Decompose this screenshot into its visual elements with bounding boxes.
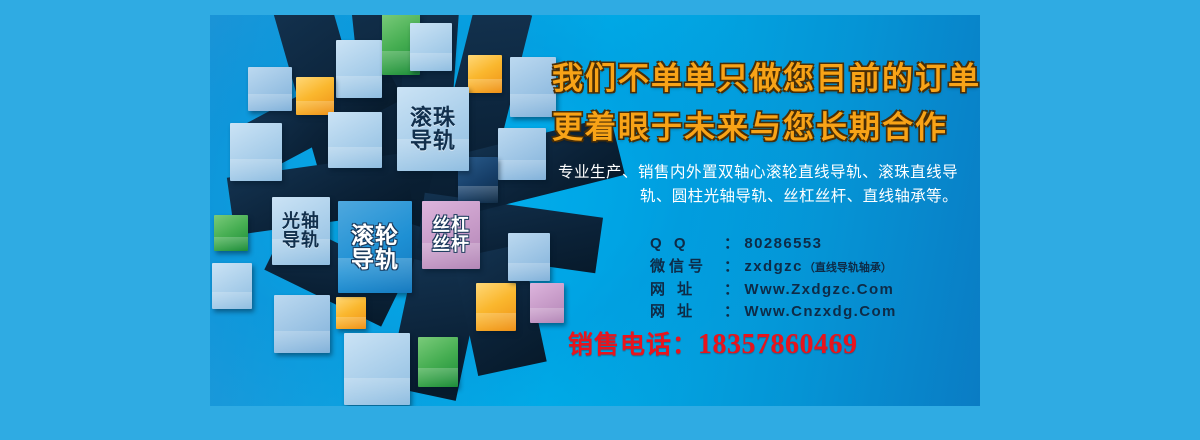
cube-guangzhou-daogui [272, 197, 330, 265]
decorative-cube [296, 77, 334, 115]
decorative-cube [328, 112, 382, 168]
decorative-cube [274, 295, 330, 353]
decorative-cube [468, 55, 502, 93]
contact-block: Q Q ： 80286553 微信号 ： zxdgzc （直线导轨轴承） 网 址… [650, 233, 980, 324]
decorative-cube [248, 67, 292, 111]
sales-phone-label: 销售电话： [568, 331, 698, 359]
contact-value[interactable]: Www.Cnzxdg.Com [744, 301, 896, 324]
product-description: 专业生产、销售内外置双轴心滚轮直线导轨、滚珠直线导轨、圆柱光轴导轨、丝杠丝杆、直… [558, 161, 958, 209]
contact-separator: ： [724, 256, 739, 279]
contact-label: 网 址 [650, 279, 724, 302]
contact-value[interactable]: Www.Zxdgzc.Com [744, 279, 894, 302]
contact-label: Q Q [650, 233, 724, 256]
contact-separator: ： [724, 279, 739, 302]
headline-line-2: 更着眼于未来与您长期合作 [552, 102, 980, 147]
contact-label: 微信号 [650, 256, 724, 279]
contact-row-qq: Q Q ： 80286553 [650, 233, 980, 256]
contact-row-website-2[interactable]: 网 址 ： Www.Cnzxdg.Com [650, 301, 980, 324]
contact-separator: ： [724, 301, 739, 324]
contact-value: 80286553 [744, 233, 822, 256]
decorative-cube [410, 23, 452, 71]
decorative-cube [336, 297, 366, 329]
decorative-cube [212, 263, 252, 309]
decorative-cube [498, 128, 546, 180]
contact-row-wechat: 微信号 ： zxdgzc （直线导轨轴承） [650, 256, 980, 279]
cube-sigang-sigan [422, 201, 480, 269]
promo-banner: 滚珠 导轨 光轴 导轨 滚轮 导轨 丝杠 丝杆 我们不 [210, 15, 980, 406]
decorative-cube [214, 215, 248, 251]
headline-line-1: 我们不单单只做您目前的订单 [552, 53, 980, 98]
decorative-cube [418, 337, 458, 387]
contact-note: （直线导轨轴承） [804, 260, 892, 277]
cube-burst-artwork: 滚珠 导轨 光轴 导轨 滚轮 导轨 丝杠 丝杆 [210, 15, 570, 406]
banner-copy: 我们不单单只做您目前的订单 更着眼于未来与您长期合作 专业生产、销售内外置双轴心… [540, 15, 980, 406]
decorative-cube [230, 123, 282, 181]
cube-gunzhu-daogui [397, 87, 469, 171]
sales-phone: 销售电话：18357860469 [568, 325, 858, 361]
decorative-cube [476, 283, 516, 331]
decorative-cube [344, 333, 410, 405]
decorative-cube [336, 40, 382, 98]
contact-label: 网 址 [650, 301, 724, 324]
cube-gunlun-daogui [338, 201, 412, 293]
sales-phone-number: 18357860469 [698, 329, 858, 360]
contact-row-website-1[interactable]: 网 址 ： Www.Zxdgzc.Com [650, 279, 980, 302]
page-root: 滚珠 导轨 光轴 导轨 滚轮 导轨 丝杠 丝杆 我们不 [0, 0, 1200, 440]
contact-separator: ： [724, 233, 739, 256]
contact-value: zxdgzc [744, 256, 802, 279]
